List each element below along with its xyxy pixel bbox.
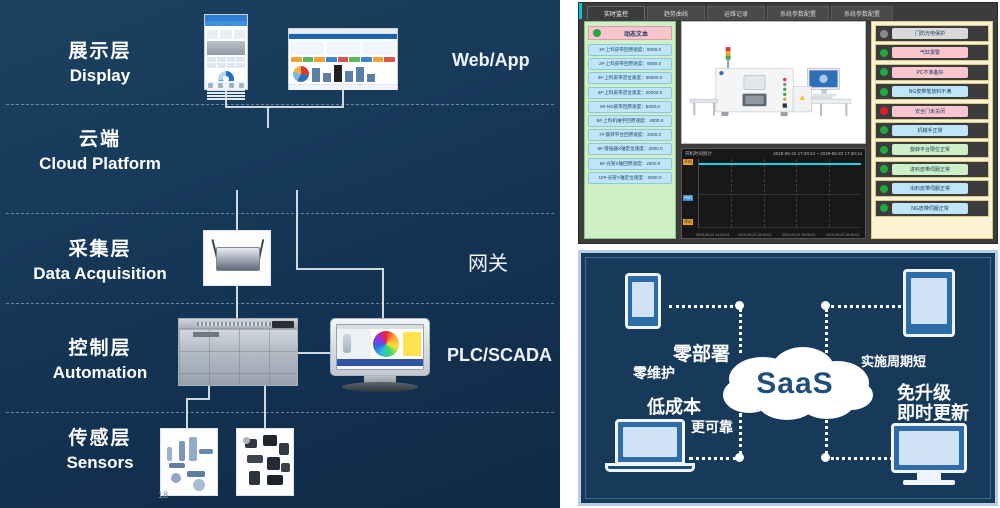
connector — [225, 106, 343, 108]
machine-photo — [681, 21, 866, 144]
scada-canvas — [337, 329, 423, 359]
connector — [296, 268, 384, 270]
hmi-tab-2[interactable]: 运维记录 — [707, 6, 765, 20]
status-panel: 门防光电保护气缸报警PC不准备好NG皮带笔放料不满安全门未关闭机械手正常旋转平台… — [871, 21, 993, 239]
scada-process-graphic — [337, 329, 371, 359]
status-indicator-icon — [880, 146, 888, 154]
saas-cloud-label: SaaS — [711, 345, 879, 423]
parameter-item-6[interactable]: 7#-旋转平台回原速度：2000.0 — [588, 129, 672, 141]
trend-series — [699, 163, 861, 165]
connector — [236, 190, 238, 234]
plc-terminal-strip — [179, 319, 297, 329]
status-indicator-icon — [880, 185, 888, 193]
parameter-item-0[interactable]: 1#-上料皮带回原速度：5000.0 — [588, 44, 672, 56]
feature-zero-deploy: 零部署 — [673, 339, 730, 366]
layer-divider — [6, 104, 554, 105]
trend-chart: 开机时间统计 2019-05-22 17:40:14 ~ 2019-05-22 … — [681, 148, 866, 239]
connector-dash — [831, 457, 893, 460]
dynamic-text-banner: 动态文本 — [588, 26, 672, 40]
connector — [382, 268, 384, 320]
color-wheel-icon — [373, 331, 399, 357]
monitor-stand — [917, 473, 941, 480]
monitor-screen — [336, 324, 424, 370]
trend-y-label: 待机 — [683, 195, 693, 201]
phone-tabbar — [205, 81, 247, 89]
parameter-list-panel: 动态文本 1#-上料皮带回原速度：5000.02#-上料皮带回原速度：5000.… — [584, 21, 676, 239]
trend-x-label: 2019-05-22 16:30:01 — [826, 233, 859, 237]
tablet-icon — [903, 269, 955, 337]
phone-icon-row — [207, 30, 245, 39]
iot-gateway-device — [203, 230, 271, 286]
status-label: 出料皮带伺服正常 — [892, 183, 968, 194]
laptop-icon — [615, 419, 685, 465]
layer-en: Cloud Platform — [0, 153, 200, 175]
web-dashboard-mockup — [288, 28, 398, 90]
feature-zero-maintenance: 零维护 — [633, 363, 675, 383]
layer-divider — [6, 303, 554, 304]
status-indicator-icon — [880, 30, 888, 38]
status-label: NG皮带伺服正常 — [892, 203, 968, 214]
feature-more-reliable: 更可靠 — [691, 417, 733, 437]
pie-chart — [293, 66, 309, 82]
status-indicator-icon — [880, 165, 888, 173]
connector — [342, 90, 344, 108]
plc-brand-logo — [193, 332, 219, 337]
status-row-6[interactable]: 旋转平台限位正常 — [875, 141, 989, 158]
hmi-tab-bar[interactable]: 实时监控趋势曲线运维记录系统参数配置系统参数配置 — [587, 6, 997, 20]
status-row-3[interactable]: NG皮带笔放料不满 — [875, 83, 989, 100]
hmi-tab-1[interactable]: 趋势曲线 — [647, 6, 705, 20]
dashboard-table — [289, 84, 397, 90]
parameter-item-9[interactable]: 10#-光管Y轴定位速度：2000.0 — [588, 172, 672, 184]
status-row-8[interactable]: 出料皮带伺服正常 — [875, 180, 989, 197]
connector-dash — [689, 457, 737, 460]
status-indicator-icon — [880, 88, 888, 96]
layer-cn: 控制层 — [0, 337, 200, 361]
status-indicator-icon — [880, 126, 888, 134]
connector — [236, 284, 238, 320]
layer-label-cloud: 云端 Cloud Platform — [0, 128, 200, 175]
layer-label-data-acquisition: 采集层 Data Acquisition — [0, 238, 200, 285]
trend-y-label: 停机 — [683, 219, 693, 225]
connector — [296, 352, 332, 354]
connector — [186, 398, 210, 400]
status-indicator-icon — [593, 29, 601, 37]
hmi-tab-4[interactable]: 系统参数配置 — [831, 6, 893, 20]
layer-en: Data Acquisition — [0, 263, 200, 285]
plc-connector — [272, 321, 294, 328]
layer-divider — [6, 412, 554, 413]
hmi-scada-panel: 实时监控趋势曲线运维记录系统参数配置系统参数配置 动态文本 1#-上料皮带回原速… — [578, 2, 998, 244]
scada-statusbar — [337, 359, 423, 366]
status-row-5[interactable]: 机械手正常 — [875, 122, 989, 139]
status-indicator-icon — [880, 68, 888, 76]
parameter-items: 1#-上料皮带回原速度：5000.02#-上料皮带回原速度：5000.03#-上… — [588, 44, 672, 184]
mobile-app-mockup — [204, 14, 248, 90]
status-label: NG皮带笔放料不满 — [892, 86, 968, 97]
phone-list — [207, 89, 245, 100]
saas-cloud: SaaS — [711, 345, 879, 423]
page-number: 18 — [158, 490, 168, 500]
parameter-item-1[interactable]: 2#-上料皮带回原速度：5000.0 — [588, 58, 672, 70]
connector — [267, 106, 269, 128]
industrial-sensors — [160, 428, 218, 496]
scada-footer — [337, 366, 423, 370]
parameter-item-7[interactable]: 8#-增强器X轴定位速度：2000.0 — [588, 143, 672, 155]
accent-bar — [579, 3, 582, 19]
connector-dash — [669, 305, 739, 308]
trend-y-label: 开机 — [683, 159, 693, 165]
layer-label-display: 展示层 Display — [0, 40, 200, 87]
laptop-base — [605, 463, 695, 472]
parameter-item-4[interactable]: 5#-NG皮带回原速度：5000.0 — [588, 101, 672, 113]
status-indicator-icon — [880, 204, 888, 212]
layer-cn: 采集层 — [0, 238, 200, 262]
phone-content — [205, 26, 247, 103]
status-label: 门防光电保护 — [892, 28, 968, 39]
status-row-1[interactable]: 气缸报警 — [875, 44, 989, 61]
parameter-item-5[interactable]: 6#-上料机械手回原速度：4000.0 — [588, 115, 672, 127]
smartphone-icon — [625, 273, 661, 329]
parameter-item-8[interactable]: 9#-光管X轴回原速度：2000.0 — [588, 158, 672, 170]
scada-swatch — [403, 332, 421, 356]
siemens-plc-module — [178, 318, 298, 386]
parameter-item-3[interactable]: 4#-上料皮带定位速度：20000.0 — [588, 87, 672, 99]
hmi-tab-0[interactable]: 实时监控 — [587, 6, 645, 20]
status-label: 旋转平台限位正常 — [892, 144, 968, 155]
layer-label-automation: 控制层 Automation — [0, 337, 200, 384]
gateway-body — [216, 247, 260, 271]
layer-en: Automation — [0, 362, 200, 384]
status-row-7[interactable]: 进料皮带伺服正常 — [875, 161, 989, 178]
connector — [186, 398, 188, 430]
scada-monitor — [330, 318, 430, 394]
monitor-base — [903, 480, 955, 485]
feature-low-cost: 低成本 — [647, 393, 701, 419]
trend-x-label: 2019-05-22 14:00:01 — [696, 233, 729, 237]
screenshot-root: 展示层 Display 云端 Cloud Platform 采集层 Data A… — [0, 0, 1000, 508]
architecture-diagram: 展示层 Display 云端 Cloud Platform 采集层 Data A… — [0, 0, 560, 508]
plc-modules — [179, 329, 297, 385]
feature-short-cycle: 实施周期短 — [861, 351, 926, 370]
dashboard-tabs — [289, 57, 397, 62]
hmi-tab-3[interactable]: 系统参数配置 — [767, 6, 829, 20]
phone-photo — [207, 41, 245, 55]
dynamic-text-label: 动态文本 — [605, 29, 667, 38]
trend-plot-area — [698, 159, 861, 228]
right-label-plc-scada: PLC/SCADA — [447, 345, 552, 366]
status-label: 机械手正常 — [892, 125, 968, 136]
phone-button-grid — [207, 57, 245, 68]
trend-x-label: 2019-05-22 15:00:01 — [738, 233, 771, 237]
saas-benefits-panel: SaaS 零部署 零维护 低成本 更可靠 实施周期短 免升级 即时更新 — [578, 250, 998, 506]
status-label: 气缸报警 — [892, 47, 968, 58]
connector — [296, 190, 298, 270]
monitor-frame — [330, 318, 430, 376]
layer-en: Display — [0, 65, 200, 87]
status-indicator-icon — [880, 49, 888, 57]
connector-dash — [831, 305, 901, 308]
status-label: PC不准备好 — [892, 67, 968, 78]
status-indicator-icon — [880, 107, 888, 115]
dashboard-charts — [289, 62, 397, 84]
electronic-sensors — [236, 428, 294, 496]
layer-cn: 云端 — [0, 128, 200, 152]
parameter-item-2[interactable]: 3#-上料皮带定位速度：35000.0 — [588, 72, 672, 84]
trend-time-range: 2019-05-22 17:40:14 ~ 2019-05-22 17:40:1… — [773, 151, 862, 156]
layer-divider — [6, 213, 554, 214]
status-label: 进料皮带伺服正常 — [892, 164, 968, 175]
connector — [264, 384, 266, 430]
trend-x-label: 2019-05-22 16:00:01 — [782, 233, 815, 237]
right-label-gateway: 网关 — [468, 247, 508, 276]
status-row-9[interactable]: NG皮带伺服正常 — [875, 200, 989, 217]
dashboard-panels — [289, 39, 397, 57]
status-label: 安全门未关闭 — [892, 106, 968, 117]
desktop-monitor-icon — [891, 423, 967, 473]
feature-instant-update: 即时更新 — [897, 399, 969, 425]
trend-title: 开机时间统计 — [685, 151, 712, 157]
monitor-base — [342, 382, 418, 392]
status-row-4[interactable]: 安全门未关闭 — [875, 103, 989, 120]
right-label-web-app: Web/App — [452, 50, 530, 71]
status-row-0[interactable]: 门防光电保护 — [875, 25, 989, 42]
status-row-2[interactable]: PC不准备好 — [875, 64, 989, 81]
layer-cn: 展示层 — [0, 40, 200, 64]
